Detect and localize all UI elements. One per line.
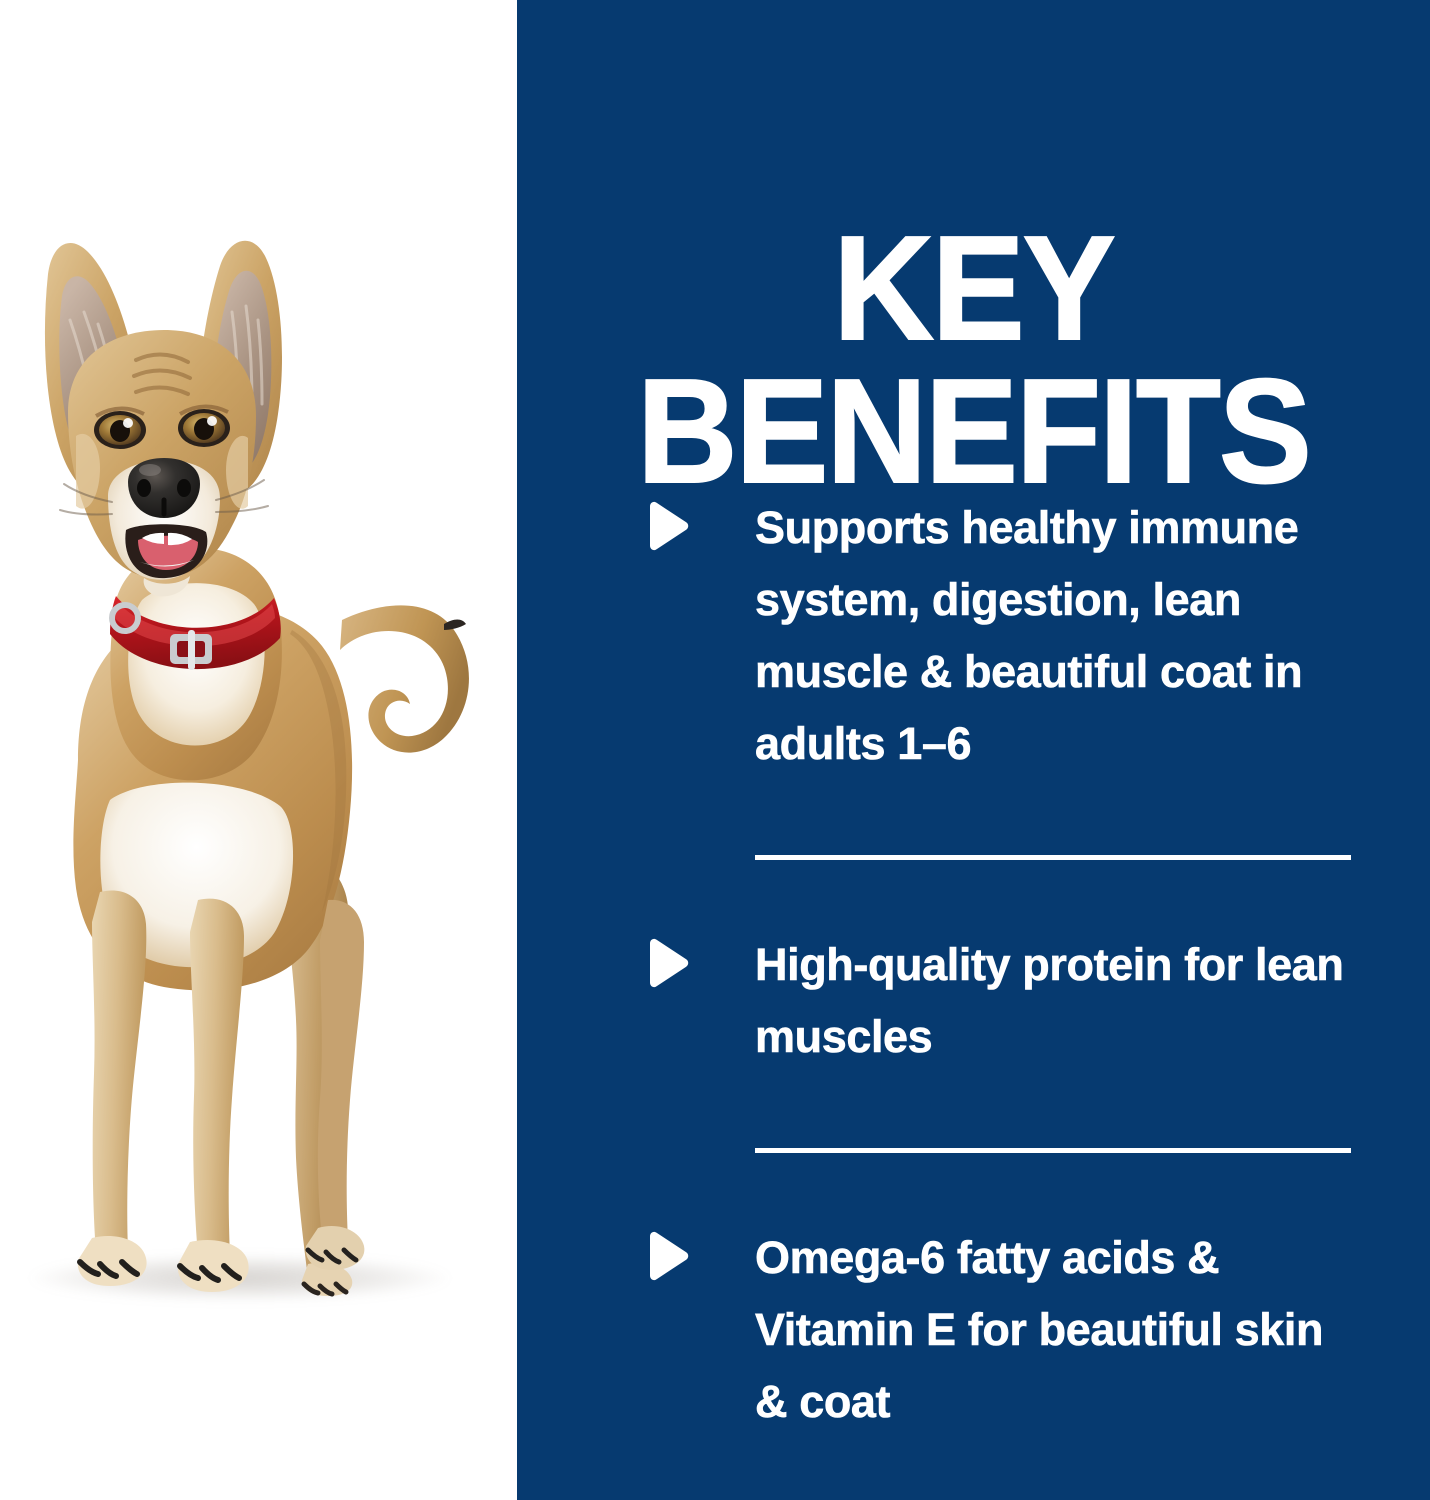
benefit-text: High-quality protein for lean muscles [755,929,1355,1073]
benefit-text: Omega-6 fatty acids & Vitamin E for beau… [755,1222,1355,1438]
key-benefits-infographic: KEY BENEFITS Supports healthy immune sys… [0,0,1430,1500]
play-triangle-icon [640,1230,692,1282]
benefit-item: Supports healthy immune system, digestio… [640,492,1372,780]
page-title: KEY BENEFITS [544,217,1402,503]
product-hero-image-panel [0,0,517,1500]
dog-photo [0,200,492,1305]
benefit-item: High-quality protein for lean muscles [640,929,1372,1073]
benefit-item: Omega-6 fatty acids & Vitamin E for beau… [640,1222,1372,1438]
key-benefits-panel: KEY BENEFITS Supports healthy immune sys… [517,0,1430,1500]
play-triangle-icon [640,937,692,989]
benefit-divider [755,855,1351,860]
benefit-text: Supports healthy immune system, digestio… [755,492,1355,780]
benefit-divider [755,1148,1351,1153]
benefits-list: Supports healthy immune system, digestio… [640,492,1372,1438]
play-triangle-icon [640,500,692,552]
